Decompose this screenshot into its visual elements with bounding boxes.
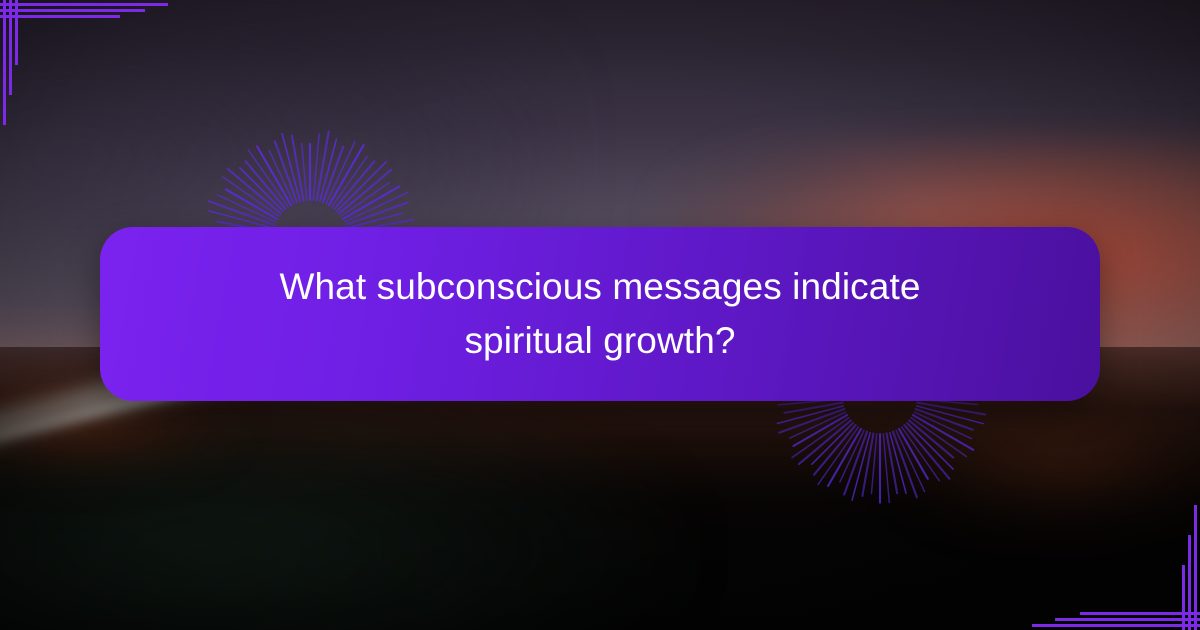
question-title: What subconscious messages indicate spir…: [220, 260, 980, 369]
corner-line-vertical: [1194, 505, 1197, 630]
question-card[interactable]: What subconscious messages indicate spir…: [100, 227, 1100, 401]
corner-line-horizontal: [0, 3, 168, 6]
corner-frame-top-left: [0, 0, 176, 133]
corner-line-horizontal: [0, 9, 145, 12]
corner-line-vertical: [1182, 565, 1185, 630]
corner-frame-bottom-right: [1024, 497, 1200, 630]
corner-line-horizontal: [1032, 624, 1200, 627]
corner-line-horizontal: [1055, 618, 1200, 621]
corner-line-horizontal: [0, 15, 120, 18]
corner-line-vertical: [9, 0, 12, 95]
corner-line-vertical: [15, 0, 18, 65]
corner-line-vertical: [1188, 535, 1191, 630]
corner-line-vertical: [3, 0, 6, 125]
social-card-canvas: What subconscious messages indicate spir…: [0, 0, 1200, 630]
